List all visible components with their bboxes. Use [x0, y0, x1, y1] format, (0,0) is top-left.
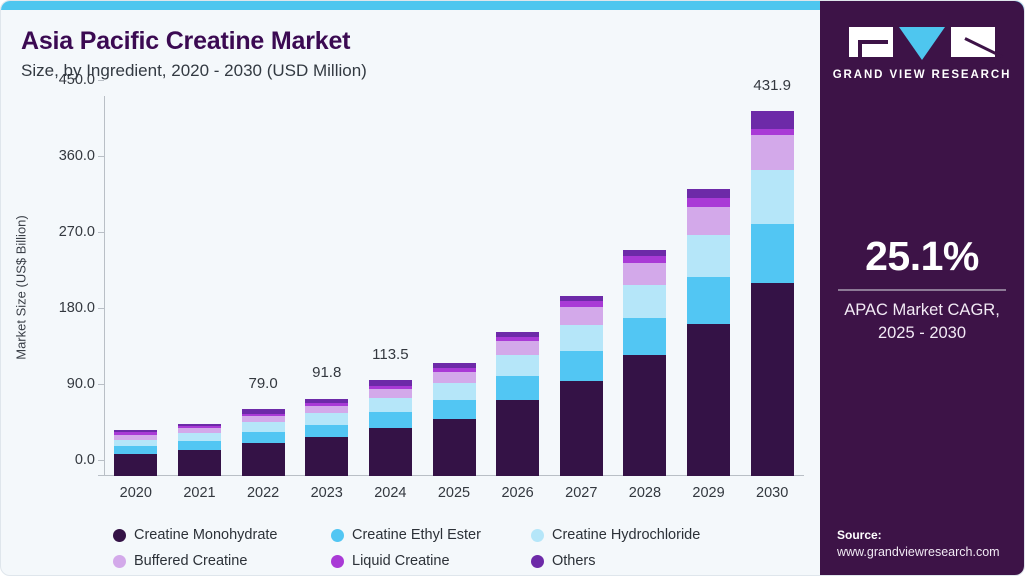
x-axis-tick-label: 2027: [565, 485, 597, 501]
bar-segment[interactable]: [433, 372, 476, 383]
bar-segment[interactable]: [242, 432, 285, 443]
x-axis-tick-label: 2030: [756, 485, 788, 501]
page-title: Asia Pacific Creatine Market: [21, 27, 350, 56]
bar-segment[interactable]: [178, 450, 221, 476]
x-axis-tick-label: 2026: [501, 485, 533, 501]
bar-segment[interactable]: [433, 383, 476, 400]
bar-segment[interactable]: [305, 425, 348, 438]
legend-label: Buffered Creatine: [134, 553, 247, 569]
bar-segment[interactable]: [751, 224, 794, 284]
bar-total-label: 113.5: [372, 346, 408, 363]
grand-view-research-logo: GRAND VIEW RESEARCH: [820, 27, 1024, 81]
legend-swatch-icon: [113, 555, 126, 568]
bar-segment[interactable]: [178, 441, 221, 450]
bar-group-2023[interactable]: 91.82023: [305, 399, 348, 476]
bar-segment[interactable]: [623, 285, 666, 318]
legend-item-others[interactable]: Others: [531, 553, 813, 569]
bar-segment[interactable]: [687, 235, 730, 277]
cagr-divider: [838, 289, 1006, 291]
y-axis-line: [104, 96, 105, 476]
bar-group-2021[interactable]: 2021: [178, 424, 221, 476]
chart-panel: Asia Pacific Creatine Market Size, by In…: [1, 10, 821, 576]
bar-group-2026[interactable]: 2026: [496, 332, 539, 476]
bar-group-2030[interactable]: 431.92030: [751, 111, 794, 476]
bar-group-2022[interactable]: 79.02022: [242, 409, 285, 476]
bar-segment[interactable]: [369, 398, 412, 412]
x-axis-tick-label: 2022: [247, 485, 279, 501]
legend-swatch-icon: [331, 529, 344, 542]
logo-r-icon: [951, 27, 995, 57]
legend-item-creatine-ethyl-ester[interactable]: Creatine Ethyl Ester: [331, 527, 531, 543]
bar-segment[interactable]: [369, 428, 412, 476]
infographic-card: Asia Pacific Creatine Market Size, by In…: [0, 0, 1025, 576]
legend-item-creatine-monohydrate[interactable]: Creatine Monohydrate: [113, 527, 331, 543]
bar-segment[interactable]: [496, 376, 539, 400]
bar-segment[interactable]: [433, 400, 476, 419]
bar-total-label: 91.8: [312, 364, 341, 381]
x-axis-tick-label: 2025: [438, 485, 470, 501]
bar-total-label: 431.9: [753, 77, 791, 94]
legend-label: Creatine Hydrochloride: [552, 527, 700, 543]
legend-swatch-icon: [113, 529, 126, 542]
cagr-caption-line1: APAC Market CAGR,: [820, 299, 1024, 322]
bar-segment[interactable]: [560, 325, 603, 351]
logo-v-triangle-icon: [899, 27, 945, 60]
logo-g-icon: [849, 27, 893, 57]
bar-segment[interactable]: [433, 419, 476, 476]
bar-group-2028[interactable]: 2028: [623, 250, 666, 476]
legend-item-buffered-creatine[interactable]: Buffered Creatine: [113, 553, 331, 569]
x-axis-tick-label: 2029: [692, 485, 724, 501]
legend-swatch-icon: [331, 555, 344, 568]
y-axis-tick-label: 450.0: [59, 72, 104, 88]
logo-marks: [849, 27, 995, 60]
y-axis-tick-label: 90.0: [67, 376, 104, 392]
bar-segment[interactable]: [114, 440, 157, 447]
bar-segment[interactable]: [560, 307, 603, 325]
bar-segment[interactable]: [687, 198, 730, 207]
bar-segment[interactable]: [305, 413, 348, 424]
source-label: Source:: [837, 528, 1000, 542]
bar-segment[interactable]: [560, 381, 603, 476]
legend-label: Creatine Ethyl Ester: [352, 527, 481, 543]
legend-label: Creatine Monohydrate: [134, 527, 277, 543]
legend-swatch-icon: [531, 555, 544, 568]
brand-side-panel: GRAND VIEW RESEARCH 25.1% APAC Market CA…: [820, 1, 1024, 576]
bar-group-2025[interactable]: 2025: [433, 363, 476, 476]
plot-area: 0.090.0180.0270.0360.0450.0 2020202179.0…: [104, 96, 804, 476]
bar-segment[interactable]: [687, 277, 730, 324]
y-axis-tick-label: 0.0: [75, 452, 104, 468]
bar-segment[interactable]: [687, 324, 730, 476]
y-axis-tick-label: 360.0: [59, 148, 104, 164]
legend-swatch-icon: [531, 529, 544, 542]
bar-segment[interactable]: [623, 355, 666, 476]
bar-segment[interactable]: [751, 135, 794, 170]
bar-segment[interactable]: [623, 318, 666, 355]
bar-segment[interactable]: [114, 446, 157, 454]
y-axis-tick-label: 180.0: [59, 300, 104, 316]
cagr-value: 25.1%: [820, 233, 1024, 280]
bar-group-2020[interactable]: 2020: [114, 430, 157, 476]
bar-segment[interactable]: [305, 406, 348, 414]
bar-group-2027[interactable]: 2027: [560, 296, 603, 476]
x-axis-tick-label: 2023: [311, 485, 343, 501]
bar-total-label: 79.0: [248, 375, 277, 392]
logo-wordmark: GRAND VIEW RESEARCH: [833, 69, 1012, 81]
bar-segment[interactable]: [623, 263, 666, 285]
bar-segment[interactable]: [369, 412, 412, 428]
y-axis-tick-label: 270.0: [59, 224, 104, 240]
bar-segment[interactable]: [496, 355, 539, 376]
bar-segment[interactable]: [496, 400, 539, 476]
legend-label: Liquid Creatine: [352, 553, 450, 569]
bar-segment[interactable]: [496, 341, 539, 355]
bar-segment[interactable]: [242, 443, 285, 476]
bar-segment[interactable]: [242, 422, 285, 432]
bar-segment[interactable]: [687, 189, 730, 198]
x-axis-tick-label: 2028: [629, 485, 661, 501]
x-axis-tick-label: 2024: [374, 485, 406, 501]
y-axis-title: Market Size (US$ Billion): [14, 128, 29, 448]
bar-segment[interactable]: [687, 207, 730, 235]
bar-segment[interactable]: [751, 283, 794, 476]
bar-segment[interactable]: [751, 170, 794, 223]
bar-segment[interactable]: [369, 389, 412, 398]
bar-segment[interactable]: [560, 351, 603, 381]
bar-segment[interactable]: [623, 256, 666, 263]
source-url: www.grandviewresearch.com: [837, 545, 1000, 559]
cagr-caption-line2: 2025 - 2030: [820, 322, 1024, 345]
bar-group-2029[interactable]: 2029: [687, 189, 730, 476]
legend-label: Others: [552, 553, 596, 569]
bar-segment[interactable]: [178, 433, 221, 441]
cagr-block: 25.1% APAC Market CAGR, 2025 - 2030: [820, 233, 1024, 345]
x-axis-tick-label: 2020: [120, 485, 152, 501]
legend-item-liquid-creatine[interactable]: Liquid Creatine: [331, 553, 531, 569]
bar-segment[interactable]: [751, 111, 794, 129]
x-axis-tick-label: 2021: [183, 485, 215, 501]
legend-item-creatine-hydrochloride[interactable]: Creatine Hydrochloride: [531, 527, 813, 543]
chart-legend: Creatine MonohydrateCreatine Ethyl Ester…: [113, 522, 813, 574]
bar-segment[interactable]: [114, 454, 157, 476]
bar-segment[interactable]: [305, 437, 348, 476]
source-block: Source: www.grandviewresearch.com: [837, 528, 1000, 559]
bar-group-2024[interactable]: 113.52024: [369, 380, 412, 476]
